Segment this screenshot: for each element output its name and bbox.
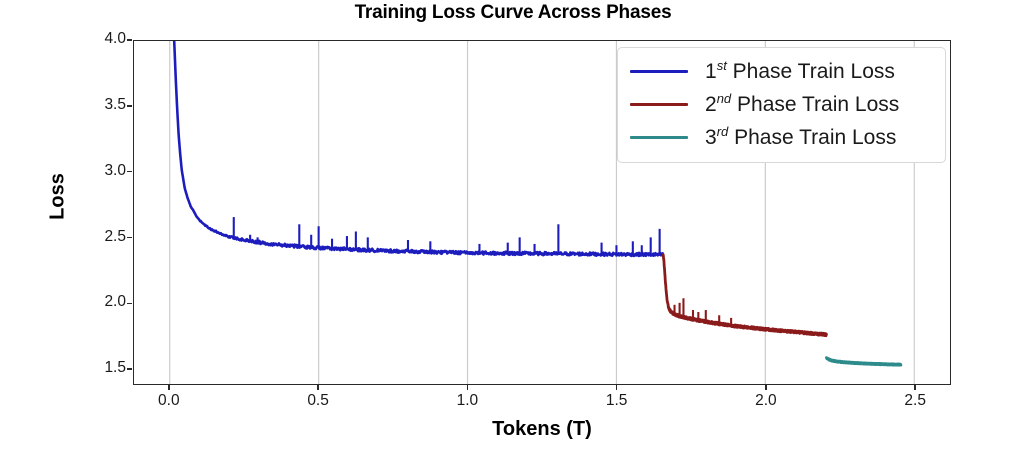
legend-item-label: 2nd Phase Train Loss — [705, 93, 899, 117]
x-tick-label: 2.0 — [736, 392, 796, 410]
y-tick-label: 2.5 — [84, 228, 126, 246]
x-tick-mark — [765, 385, 767, 390]
x-tick-mark — [317, 385, 319, 390]
chart-legend: 1st Phase Train Loss2nd Phase Train Loss… — [617, 47, 946, 163]
series-line-3 — [826, 358, 900, 366]
x-tick-mark — [616, 385, 618, 390]
y-tick-label: 3.0 — [84, 162, 126, 180]
legend-color-swatch — [630, 136, 688, 140]
y-tick-mark — [127, 39, 132, 41]
y-tick-mark — [127, 368, 132, 370]
legend-color-swatch — [630, 70, 688, 74]
chart-title: Training Loss Curve Across Phases — [0, 2, 1026, 24]
y-axis-label: Loss — [47, 137, 70, 257]
x-tick-mark — [914, 385, 916, 390]
legend-color-swatch — [630, 103, 688, 107]
legend-item: 2nd Phase Train Loss — [630, 88, 933, 121]
chart-figure: Training Loss Curve Across Phases Loss T… — [0, 0, 1026, 454]
x-tick-mark — [467, 385, 469, 390]
x-tick-label: 0.0 — [139, 392, 199, 410]
legend-item-label: 1st Phase Train Loss — [705, 60, 895, 84]
y-tick-mark — [127, 303, 132, 305]
legend-item: 1st Phase Train Loss — [630, 55, 933, 88]
x-axis-label: Tokens (T) — [133, 418, 951, 441]
x-tick-mark — [168, 385, 170, 390]
series-line-2 — [663, 255, 826, 336]
x-tick-label: 0.5 — [288, 392, 348, 410]
series-line-1 — [174, 41, 662, 256]
x-tick-label: 2.5 — [885, 392, 945, 410]
y-tick-mark — [127, 237, 132, 239]
x-tick-label: 1.0 — [437, 392, 497, 410]
y-tick-mark — [127, 105, 132, 107]
legend-item-label: 3rd Phase Train Loss — [705, 126, 896, 150]
y-axis-tick-labels: 1.52.02.53.03.54.0 — [78, 0, 126, 454]
legend-item: 3rd Phase Train Loss — [630, 121, 933, 154]
y-tick-label: 1.5 — [84, 359, 126, 377]
y-tick-label: 2.0 — [84, 293, 126, 311]
x-tick-label: 1.5 — [587, 392, 647, 410]
y-tick-mark — [127, 171, 132, 173]
y-tick-label: 4.0 — [84, 30, 126, 48]
y-tick-label: 3.5 — [84, 96, 126, 114]
